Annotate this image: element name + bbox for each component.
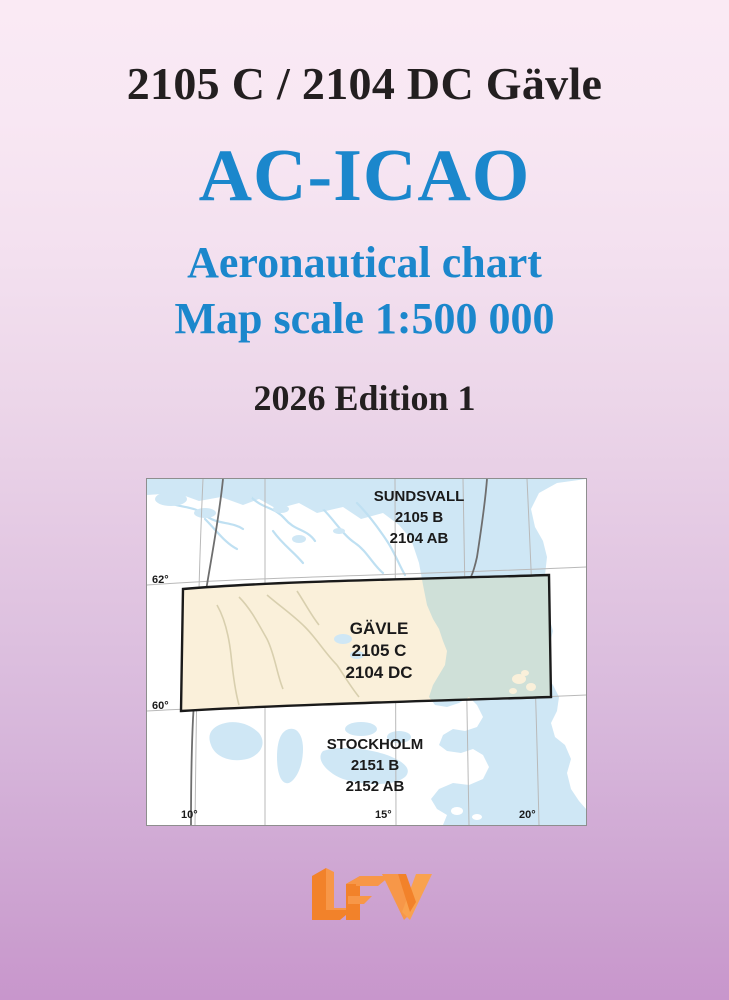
sheet-label-sundsvall-code1: 2105 B [395, 509, 444, 526]
lake-shape [345, 493, 361, 501]
sheet-label-stockholm-code2: 2152 AB [346, 778, 405, 795]
lake-shape [292, 535, 306, 543]
longitude-label-15: 15° [375, 809, 392, 821]
latitude-label-62: 62° [152, 574, 169, 586]
sheet-label-gavle-code2: 2104 DC [345, 663, 412, 682]
lfv-letter-f-arm-mid [348, 896, 372, 904]
island-shape [451, 807, 463, 815]
longitude-label-20: 20° [519, 809, 536, 821]
latitude-label-60: 60° [152, 700, 169, 712]
chart-code-title: 2105 C / 2104 DC Gävle [0, 57, 729, 111]
sheet-label-stockholm-name: STOCKHOLM [327, 736, 423, 753]
title-block: 2105 C / 2104 DC Gävle AC-ICAO Aeronauti… [0, 0, 729, 419]
lake-shape [333, 528, 345, 534]
lfv-logo [306, 862, 434, 924]
lake-shape [309, 500, 329, 510]
sheet-label-stockholm-code1: 2151 B [351, 757, 400, 774]
chart-cover-page: 2105 C / 2104 DC Gävle AC-ICAO Aeronauti… [0, 0, 729, 1000]
lake-shape [234, 492, 252, 502]
lake-shape [194, 508, 216, 518]
lfv-logo-mark [306, 862, 434, 924]
chart-type-title: AC-ICAO [0, 137, 729, 215]
sheet-label-gavle-name: GÄVLE [350, 619, 409, 638]
longitude-label-10: 10° [181, 809, 198, 821]
chart-scale-subtitle: Map scale 1:500 000 [0, 293, 729, 345]
lake-shape [273, 505, 289, 513]
sheet-label-sundsvall-code2: 2104 AB [390, 530, 449, 547]
edition-label: 2026 Edition 1 [0, 377, 729, 419]
coverage-map-inset: SUNDSVALL 2105 B 2104 AB GÄVLE 2105 C 21… [146, 478, 587, 826]
sheet-label-gavle-code1: 2105 C [352, 641, 407, 660]
lake-shape [345, 722, 377, 736]
sheet-label-sundsvall-name: SUNDSVALL [374, 488, 465, 505]
chart-subtitle-primary: Aeronautical chart [0, 237, 729, 289]
lake-shape [155, 492, 187, 506]
island-shape [472, 814, 482, 820]
